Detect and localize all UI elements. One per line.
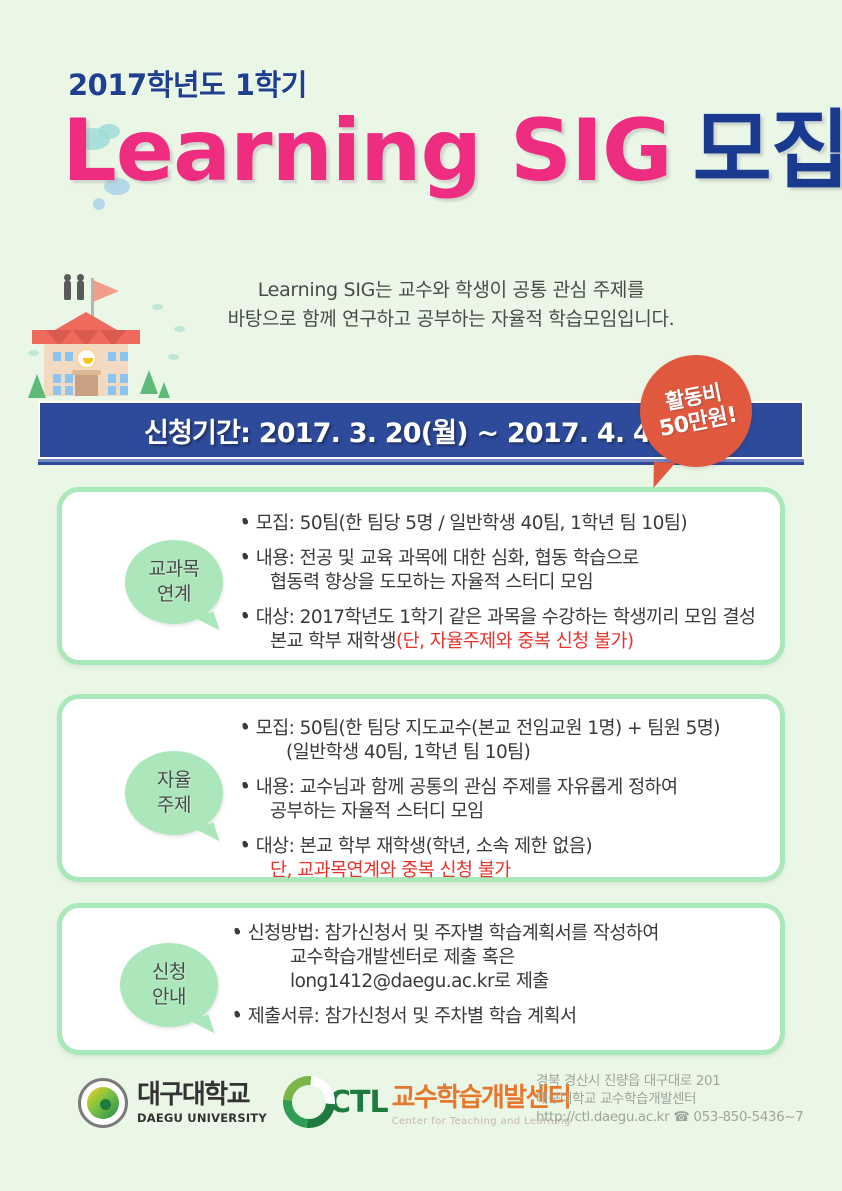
ctl-ring-icon xyxy=(272,1065,345,1138)
university-seal-icon xyxy=(78,1078,128,1128)
section-label-free-topic: 자율 주제 xyxy=(125,751,223,835)
tree-icon-right2 xyxy=(158,382,170,398)
ctl-logo: CTL 교수학습개발센터 Center for Teaching and Lea… xyxy=(283,1076,571,1128)
door-icon xyxy=(75,374,98,396)
item-head: • 모집: 50팀(한 팀당 지도교수(본교 전임교원 1명) + 팀원 5명) xyxy=(240,718,720,739)
section-box-course-linked: 교과목 연계 • 모집: 50팀(한 팀당 5명 / 일반학생 40팀, 1학년… xyxy=(57,487,785,665)
banner-text: 신청기간: 2017. 3. 20(월) ~ 2017. 4. 4(화) xyxy=(144,411,698,450)
section-label-line-1: 자율 xyxy=(157,768,191,793)
section-body-course-linked: • 모집: 50팀(한 팀당 5명 / 일반학생 40팀, 1학년 팀 10팀)… xyxy=(240,512,758,665)
poster-root: 2017학년도 1학기 Learning SIG 모집 xyxy=(0,0,842,1191)
item-cont: (일반학생 40팀, 1학년 팀 10팀) xyxy=(240,741,758,765)
contact-address-line-2: 대구대학교 교수학습개발센터 xyxy=(536,1090,803,1108)
section-label-line-1: 교과목 xyxy=(149,557,200,582)
list-item: • 내용: 교수님과 함께 공통의 관심 주제를 자유롭게 정하여 공부하는 자… xyxy=(240,776,758,824)
item-cont-plain: 본교 학부 재학생 xyxy=(270,631,396,652)
clock-icon xyxy=(76,348,97,369)
item-cont-warning: (단, 자율주제와 중복 신청 불가) xyxy=(396,631,634,652)
item-head: • 대상: 2017학년도 1학기 같은 과목을 수강하는 학생끼리 모임 결성 xyxy=(240,607,755,628)
section-label-course-linked: 교과목 연계 xyxy=(125,540,223,624)
item-head: • 대상: 본교 학부 재학생(학년, 소속 제한 없음) xyxy=(240,836,592,857)
daegu-university-logo: 대구대학교 DAEGU UNIVERSITY xyxy=(78,1078,267,1128)
semester-eyebrow: 2017학년도 1학기 xyxy=(68,70,842,102)
item-cont: 본교 학부 재학생(단, 자율주제와 중복 신청 불가) xyxy=(240,630,758,654)
ctl-mark: CTL xyxy=(329,1085,388,1120)
section-label-line-2: 주제 xyxy=(157,793,191,818)
section-label-how-to-apply: 신청 안내 xyxy=(120,943,218,1027)
poster-footer: 대구대학교 DAEGU UNIVERSITY CTL 교수학습개발센터 Cent… xyxy=(0,1072,842,1162)
item-head: • 모집: 50팀(한 팀당 5명 / 일반학생 40팀, 1학년 팀 10팀) xyxy=(240,513,687,534)
university-name-ko: 대구대학교 xyxy=(137,1082,267,1108)
item-head: • 내용: 전공 및 교육 과목에 대한 심화, 협동 학습으로 xyxy=(240,548,639,569)
item-cont: 협동력 향상을 도모하는 자율적 스터디 모임 xyxy=(240,571,758,595)
item-head: • 신청방법: 참가신청서 및 주자별 학습계획서를 작성하여 xyxy=(232,923,659,944)
item-cont-email: long1412@daegu.ac.kr로 제출 xyxy=(232,970,758,994)
intro-line-2: 바탕으로 함께 연구하고 공부하는 자율적 학습모임입니다. xyxy=(60,305,842,334)
list-item: • 모집: 50팀(한 팀당 5명 / 일반학생 40팀, 1학년 팀 10팀) xyxy=(240,512,758,536)
intro-line-1: Learning SIG는 교수와 학생이 공통 관심 주제를 xyxy=(60,276,842,305)
contact-info: 경북 경산시 진량읍 대구대로 201 대구대학교 교수학습개발센터 http:… xyxy=(536,1072,803,1127)
title-korean: 모집 xyxy=(693,101,842,201)
page-title: Learning SIG 모집 xyxy=(62,108,842,194)
section-box-how-to-apply: 신청 안내 • 신청방법: 참가신청서 및 주자별 학습계획서를 작성하여 교수… xyxy=(57,903,785,1055)
university-name-en: DAEGU UNIVERSITY xyxy=(137,1111,267,1125)
section-box-free-topic: 자율 주제 • 모집: 50팀(한 팀당 지도교수(본교 전임교원 1명) + … xyxy=(57,694,785,882)
title-english: Learning SIG xyxy=(62,101,672,201)
item-cont-warning: 단, 교과목연계와 중복 신청 불가 xyxy=(240,859,758,883)
tree-icon-right xyxy=(140,370,158,394)
tree-icon-left xyxy=(28,374,46,398)
section-label-line-2: 안내 xyxy=(152,985,186,1010)
list-item: • 신청방법: 참가신청서 및 주자별 학습계획서를 작성하여 교수학습개발센터… xyxy=(232,922,758,994)
list-item: • 내용: 전공 및 교육 과목에 대한 심화, 협동 학습으로 협동력 향상을… xyxy=(240,547,758,595)
item-head: • 제출서류: 참가신청서 및 주차별 학습 계획서 xyxy=(232,1006,577,1027)
item-head: • 내용: 교수님과 함께 공통의 관심 주제를 자유롭게 정하여 xyxy=(240,777,678,798)
section-body-free-topic: • 모집: 50팀(한 팀당 지도교수(본교 전임교원 1명) + 팀원 5명)… xyxy=(240,717,758,894)
contact-address-line-1: 경북 경산시 진량읍 대구대로 201 xyxy=(536,1072,803,1090)
poster-header: 2017학년도 1학기 Learning SIG 모집 xyxy=(0,70,842,194)
list-item: • 모집: 50팀(한 팀당 지도교수(본교 전임교원 1명) + 팀원 5명)… xyxy=(240,717,758,765)
contact-web-and-phone[interactable]: http://ctl.daegu.ac.kr ☎ 053-850-5436~7 xyxy=(536,1108,803,1126)
item-cont: 교수학습개발센터로 제출 혹은 xyxy=(232,946,758,970)
list-item: • 대상: 본교 학부 재학생(학년, 소속 제한 없음) 단, 교과목연계와 … xyxy=(240,835,758,883)
item-cont: 공부하는 자율적 스터디 모임 xyxy=(240,800,758,824)
list-item: • 대상: 2017학년도 1학기 같은 과목을 수강하는 학생끼리 모임 결성… xyxy=(240,606,758,654)
list-item: • 제출서류: 참가신청서 및 주차별 학습 계획서 xyxy=(232,1005,758,1029)
section-label-line-1: 신청 xyxy=(152,960,186,985)
section-body-how-to-apply: • 신청방법: 참가신청서 및 주자별 학습계획서를 작성하여 교수학습개발센터… xyxy=(232,922,758,1040)
intro-description: Learning SIG는 교수와 학생이 공통 관심 주제를 바탕으로 함께 … xyxy=(0,276,842,335)
section-label-line-2: 연계 xyxy=(157,582,191,607)
